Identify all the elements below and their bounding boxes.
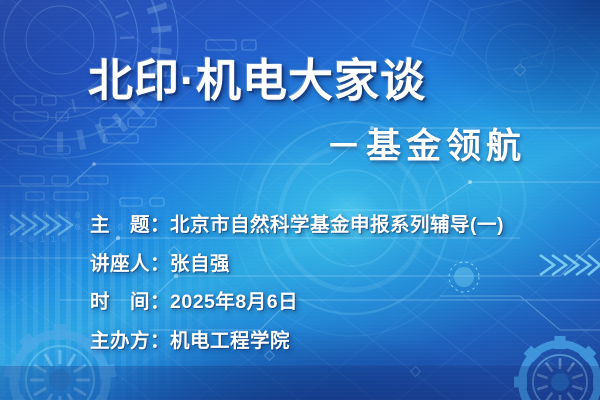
- page-subtitle: －基金领航: [326, 118, 526, 169]
- info-line-topic: 主 题：北京市自然科学基金申报系列辅导(一): [90, 206, 504, 245]
- poster-canvas: 1 0 0 0 1 1 0 0 1 1 0 0 1 0 1 1 0 1 1 0 …: [0, 0, 600, 400]
- poster-text-layer: 北印·机电大家谈 －基金领航 主 题：北京市自然科学基金申报系列辅导(一) 讲座…: [0, 0, 600, 400]
- info-line-speaker: 讲座人：张自强: [90, 245, 504, 284]
- info-line-datetime: 时 间：2025年8月6日: [90, 283, 504, 322]
- page-title: 北印·机电大家谈: [88, 44, 426, 109]
- info-line-organizer: 主办方：机电工程学院: [90, 322, 504, 361]
- info-block: 主 题：北京市自然科学基金申报系列辅导(一) 讲座人：张自强 时 间：2025年…: [90, 206, 504, 360]
